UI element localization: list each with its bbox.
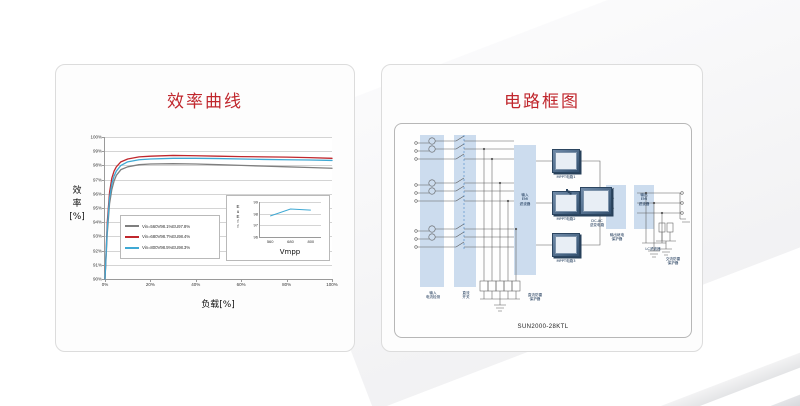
x-axis-tick: 0% [102,282,109,287]
y-axis-tick: 93% [93,234,102,239]
x-axis-tick: 60% [237,282,246,287]
inset-curve [260,202,321,237]
eu-eff-inset-chart: EuEff 96979899560680800 Vmpp [226,195,330,261]
inset-y-axis-tick: 97 [254,223,258,228]
y-axis-tick: 99% [93,149,102,154]
label-output-relay: 输出继电保护器 [600,233,634,242]
y-axis-title: 效率[%] [66,185,88,224]
inset-y-axis-tick: 96 [254,235,258,240]
circuit-diagram: 输入电流检测 直流开关 输入EMI滤波器 MPPT电路1 MPPT电路2 MPP… [394,123,692,338]
x-axis-title: 负载[%] [104,297,332,310]
y-axis-tick: 97% [93,177,102,182]
x-axis-tick: 40% [191,282,200,287]
y-axis-tick: 95% [93,206,102,211]
x-axis-tickmark [150,279,151,282]
legend-color-swatch [125,236,139,238]
inset-plot-area: 96979899560680800 [259,202,321,238]
inset-y-axis-tick: 99 [254,200,258,205]
label-mppt-3: MPPT电路3 [544,259,588,263]
circuit-diagram-title: 电路框图 [382,87,702,112]
x-axis-tick: 100% [326,282,338,287]
y-axis-tick: 91% [93,262,102,267]
label-dc-surge: 直流防雷保护器 [518,293,552,302]
legend-color-swatch [125,247,139,249]
inset-y-axis-tick: 98 [254,211,258,216]
y-axis-tick: 96% [93,191,102,196]
x-axis-tickmark [332,279,333,282]
legend-label: Vin=800V98.5%EU98.3% [142,245,190,250]
label-dc-switch: 直流开关 [452,291,480,300]
y-axis-tick: 100% [90,135,102,140]
x-axis-tickmark [196,279,197,282]
x-axis-tick: 80% [282,282,291,287]
legend-item: Vin=680V98.7%EU98.4% [125,234,215,239]
x-axis-tickmark [287,279,288,282]
label-lc-filter: LC滤波器 [636,247,670,251]
y-axis-tick: 90% [93,277,102,282]
legend-item: Vin=800V98.5%EU98.3% [125,245,215,250]
efficiency-curve-card: 效率曲线 效率[%] 90%91%92%93%94%95%96%97%98%99… [55,64,355,352]
label-mppt-1: MPPT电路1 [544,175,588,179]
dc-ac-inverter-block [580,187,612,215]
efficiency-curve-title: 效率曲线 [56,87,354,112]
legend-color-swatch [125,225,139,227]
inset-x-axis-title: Vmpp [259,248,321,256]
circuit-diagram-card: 电路框图 [381,64,703,352]
circuit-wiring-right [394,123,692,338]
y-axis-tick: 98% [93,163,102,168]
label-output-emi: 输出EMI滤波器 [632,193,656,206]
legend-label: Vin=680V98.7%EU98.4% [142,234,190,239]
legend-label: Vin=560V98.1%EU97.8% [142,224,190,229]
model-label: SUN2000-28KTL [394,324,692,330]
x-axis-tick: 20% [146,282,155,287]
x-axis-tickmark [241,279,242,282]
label-dc-ac: DC-AC逆变电路 [576,219,618,228]
inset-y-axis-title: EuEff [233,204,243,229]
y-axis-tick: 94% [93,220,102,225]
label-input-emi: 输入EMI滤波器 [512,193,538,206]
efficiency-chart: 效率[%] 90%91%92%93%94%95%96%97%98%99%100%… [64,127,348,345]
inset-x-axis-tick: 680 [287,239,294,244]
legend-item: Vin=560V98.1%EU97.8% [125,224,215,229]
y-axis-tick: 92% [93,248,102,253]
inset-x-axis-tick: 560 [267,239,274,244]
label-ac-surge: 交流防雷保护器 [656,257,690,266]
label-input-current: 输入电流检测 [416,291,450,300]
inset-x-axis-tick: 800 [307,239,314,244]
chart-legend: Vin=560V98.1%EU97.8%Vin=680V98.7%EU98.4%… [120,215,220,259]
